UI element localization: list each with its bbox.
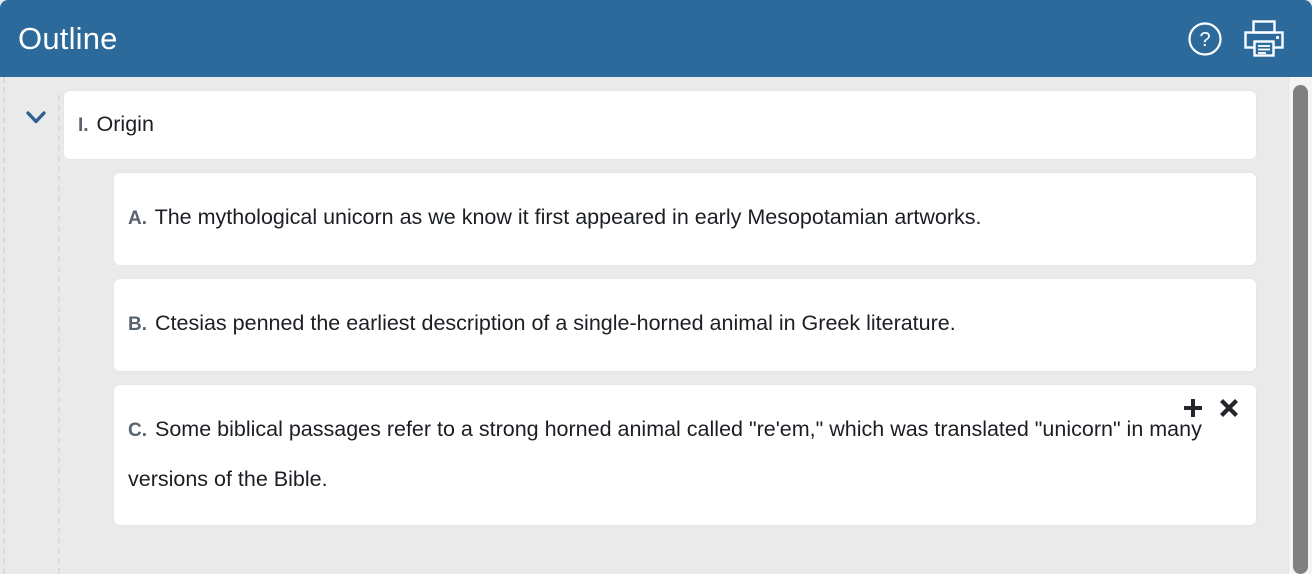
add-icon[interactable] (1180, 395, 1206, 421)
outline-item-card[interactable]: A. The mythological unicorn as we know i… (114, 173, 1256, 265)
outline-row-4: C. Some biblical passages refer to a str… (0, 371, 1289, 525)
vertical-scrollbar-track[interactable] (1288, 77, 1312, 574)
outline-item-body: The mythological unicorn as we know it f… (155, 205, 982, 229)
outline-item-card[interactable]: I. Origin (64, 91, 1256, 159)
outline-item-text: B. Ctesias penned the earliest descripti… (124, 299, 1234, 349)
outline-item-marker: I. (78, 115, 89, 136)
outline-app: Outline ? (0, 0, 1312, 574)
svg-text:?: ? (1199, 29, 1210, 51)
page-title: Outline (18, 23, 118, 54)
outline-scroll-area[interactable]: I. Origin A. The mythological unicorn as… (0, 77, 1312, 574)
outline-item-body: Origin (97, 112, 154, 136)
outline-item-card[interactable]: B. Ctesias penned the earliest descripti… (114, 279, 1256, 371)
print-icon[interactable] (1242, 18, 1286, 60)
outline-item-text: I. Origin (74, 109, 1234, 141)
outline-item-marker: B. (128, 314, 147, 335)
app-header: Outline ? (0, 0, 1312, 77)
outline-item-marker: C. (128, 420, 147, 441)
outline-item-body: Ctesias penned the earliest description … (155, 311, 956, 335)
outline-item-body: Some biblical passages refer to a strong… (128, 417, 1202, 491)
header-actions: ? (1186, 18, 1286, 60)
delete-icon[interactable] (1216, 395, 1242, 421)
outline-item-text: C. Some biblical passages refer to a str… (124, 405, 1234, 503)
outline-row-3: B. Ctesias penned the earliest descripti… (0, 265, 1289, 371)
vertical-scrollbar-thumb[interactable] (1293, 85, 1308, 574)
outline-row-1: I. Origin (0, 77, 1289, 159)
outline-item-marker: A. (128, 208, 147, 229)
chevron-down-icon[interactable] (22, 103, 50, 131)
outline-item-card[interactable]: C. Some biblical passages refer to a str… (114, 385, 1256, 525)
help-icon[interactable]: ? (1186, 20, 1224, 58)
outline-row-2: A. The mythological unicorn as we know i… (0, 159, 1289, 265)
outline-item-tools (1180, 395, 1242, 421)
outline-list: I. Origin A. The mythological unicorn as… (0, 77, 1289, 525)
outline-item-text: A. The mythological unicorn as we know i… (124, 193, 1234, 243)
